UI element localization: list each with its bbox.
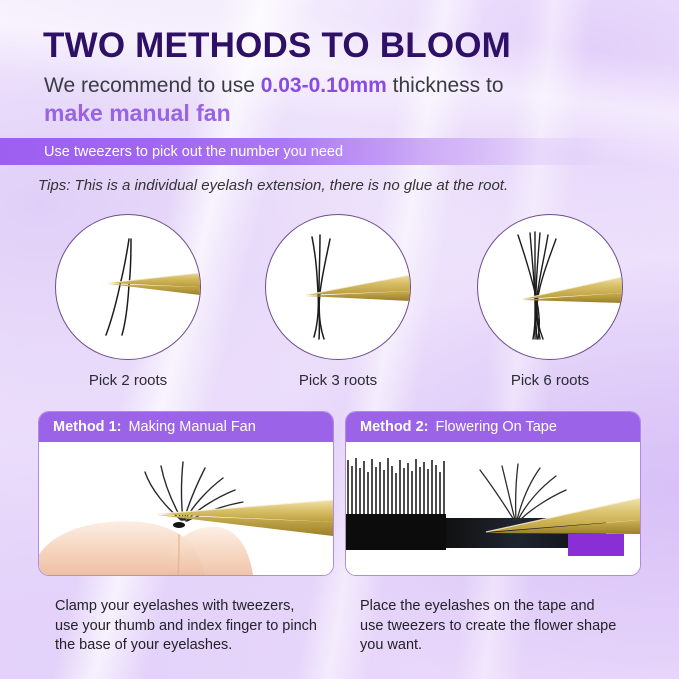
pick-roots-circle-3 xyxy=(477,214,623,360)
recommendation-line-2: make manual fan xyxy=(44,100,231,127)
method-card-2-header: Method 2: Flowering On Tape xyxy=(346,412,640,442)
hand-pinching-fan-icon xyxy=(39,442,333,575)
lashes-on-tape-icon xyxy=(346,442,640,575)
method-card-1: Method 1: Making Manual Fan xyxy=(38,411,334,576)
pick-roots-label-2: Pick 3 roots xyxy=(245,372,431,389)
tweezers-three-lashes-icon xyxy=(266,215,410,359)
tips-text: Tips: This is a individual eyelash exten… xyxy=(38,177,508,194)
tweezers-six-lashes-icon xyxy=(478,215,622,359)
method-card-2-caption: Place the eyelashes on the tape and use … xyxy=(360,597,660,656)
method-card-1-name: Making Manual Fan xyxy=(128,419,255,435)
recommendation-suffix: thickness to xyxy=(387,74,504,97)
page-title: TWO METHODS TO BLOOM xyxy=(43,26,511,66)
pick-roots-item-2: Pick 3 roots xyxy=(245,214,431,389)
method-card-2-name: Flowering On Tape xyxy=(435,419,556,435)
method-card-2-number: Method 2: xyxy=(360,419,428,435)
thickness-value: 0.03-0.10mm xyxy=(261,74,387,97)
pick-roots-item-1: Pick 2 roots xyxy=(35,214,221,389)
instruction-banner-text: Use tweezers to pick out the number you … xyxy=(44,144,343,160)
recommendation-line: We recommend to use 0.03-0.10mm thicknes… xyxy=(44,71,504,100)
pick-roots-circle-2 xyxy=(265,214,411,360)
method-card-2-figure xyxy=(346,442,640,575)
pick-roots-row: Pick 2 roots xyxy=(0,214,679,399)
method-card-1-number: Method 1: xyxy=(53,419,121,435)
method-card-2: Method 2: Flowering On Tape xyxy=(345,411,641,576)
tweezers-two-lashes-icon xyxy=(56,215,200,359)
method-card-1-header: Method 1: Making Manual Fan xyxy=(39,412,333,442)
pick-roots-label-1: Pick 2 roots xyxy=(35,372,221,389)
pick-roots-label-3: Pick 6 roots xyxy=(457,372,643,389)
method-card-1-caption: Clamp your eyelashes with tweezers, use … xyxy=(55,597,355,656)
pick-roots-circle-1 xyxy=(55,214,201,360)
recommendation-prefix: We recommend to use xyxy=(44,74,261,97)
pick-roots-item-3: Pick 6 roots xyxy=(457,214,643,389)
method-card-1-figure xyxy=(39,442,333,575)
